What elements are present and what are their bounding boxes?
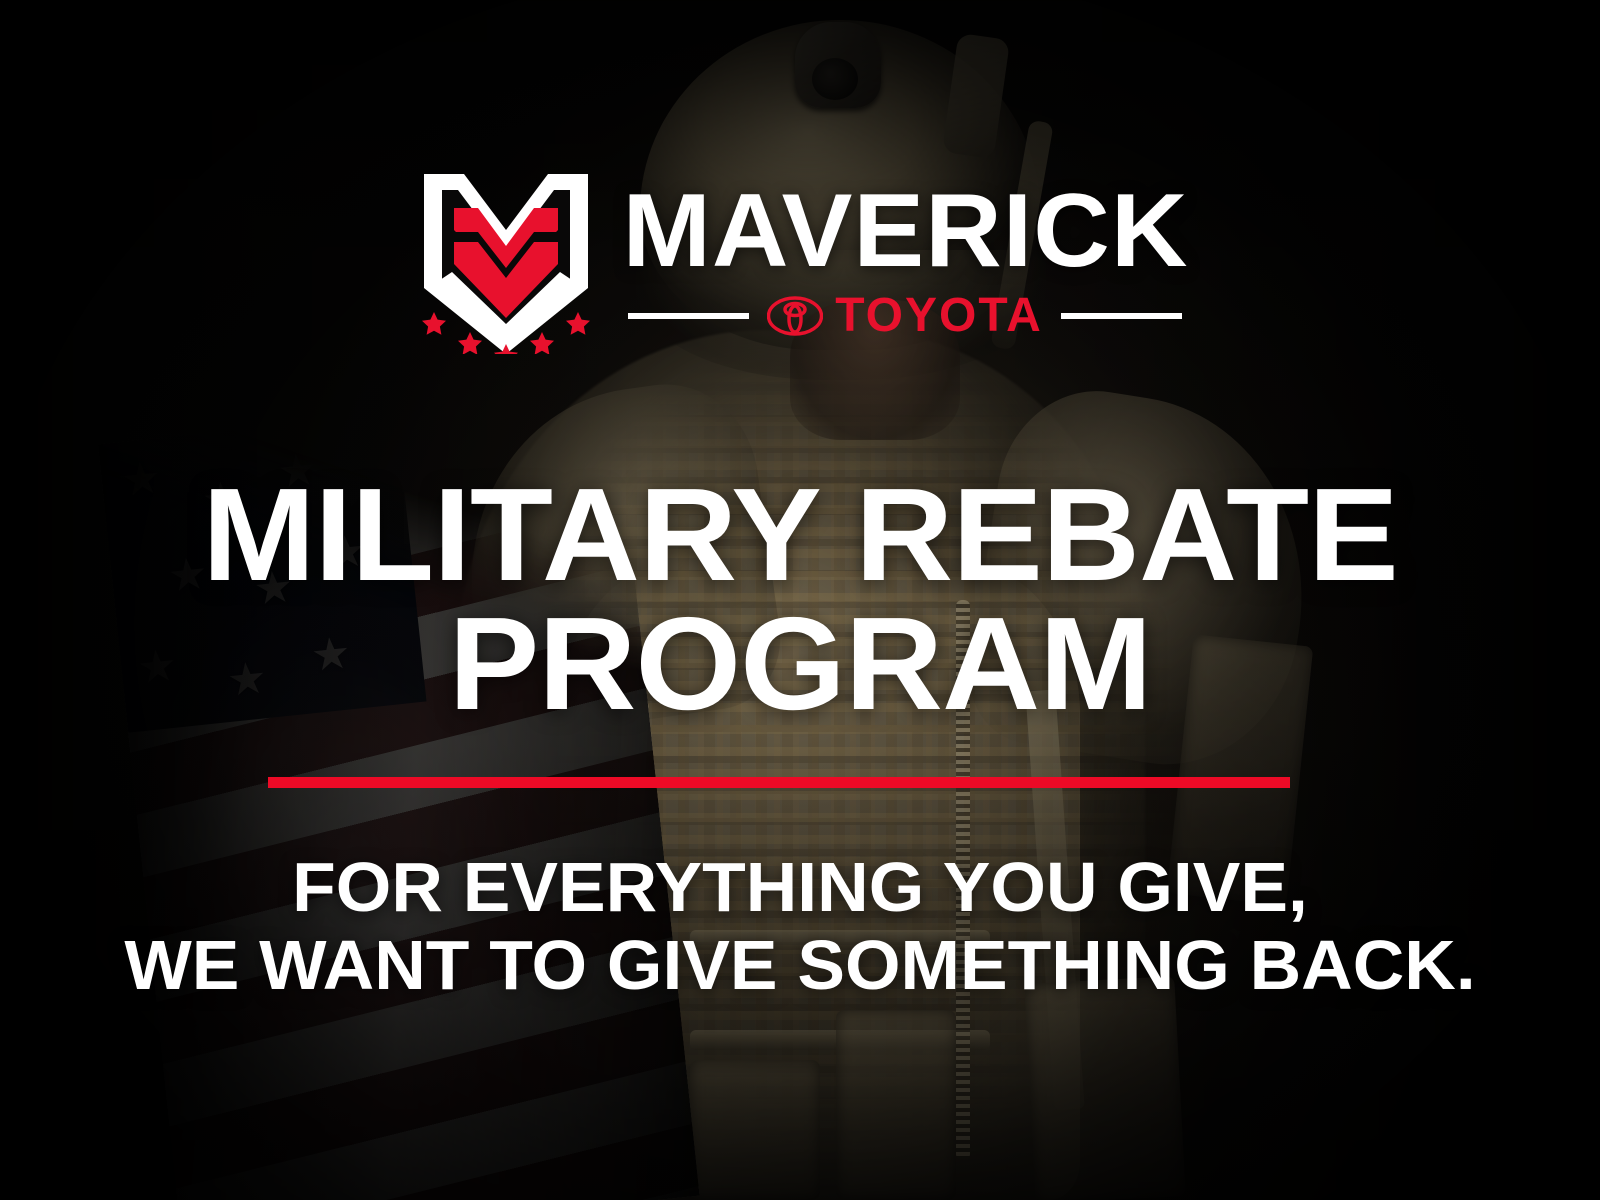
page-title: MILITARY REBATE PROGRAM — [0, 470, 1600, 729]
maverick-chevron-emblem-icon — [418, 168, 594, 354]
military-rebate-banner: ★ ★ ★ ★ ★ ★ ★ ★ ★ — [0, 0, 1600, 1200]
toyota-rule-right — [1061, 313, 1183, 319]
tagline-line-2: WE WANT TO GIVE SOMETHING BACK. — [0, 926, 1600, 1004]
toyota-wordmark: TOYOTA — [835, 292, 1043, 340]
toyota-row: TOYOTA — [628, 292, 1183, 340]
red-divider — [268, 777, 1290, 788]
tagline-line-1: FOR EVERYTHING YOU GIVE, — [292, 848, 1308, 926]
maverick-toyota-logo[interactable]: MAVERICK TOYOTA — [0, 168, 1600, 354]
banner-content: MAVERICK TOYOTA MILITARY — [0, 0, 1600, 1200]
toyota-oval-icon — [767, 296, 823, 336]
headline-line-1: MILITARY REBATE — [202, 461, 1398, 608]
headline-line-2: PROGRAM — [0, 599, 1600, 728]
tagline: FOR EVERYTHING YOU GIVE, WE WANT TO GIVE… — [0, 848, 1600, 1005]
logo-text-column: MAVERICK TOYOTA — [628, 182, 1183, 340]
toyota-badge: TOYOTA — [767, 292, 1043, 340]
maverick-wordmark: MAVERICK — [622, 182, 1188, 282]
toyota-rule-left — [628, 313, 750, 319]
